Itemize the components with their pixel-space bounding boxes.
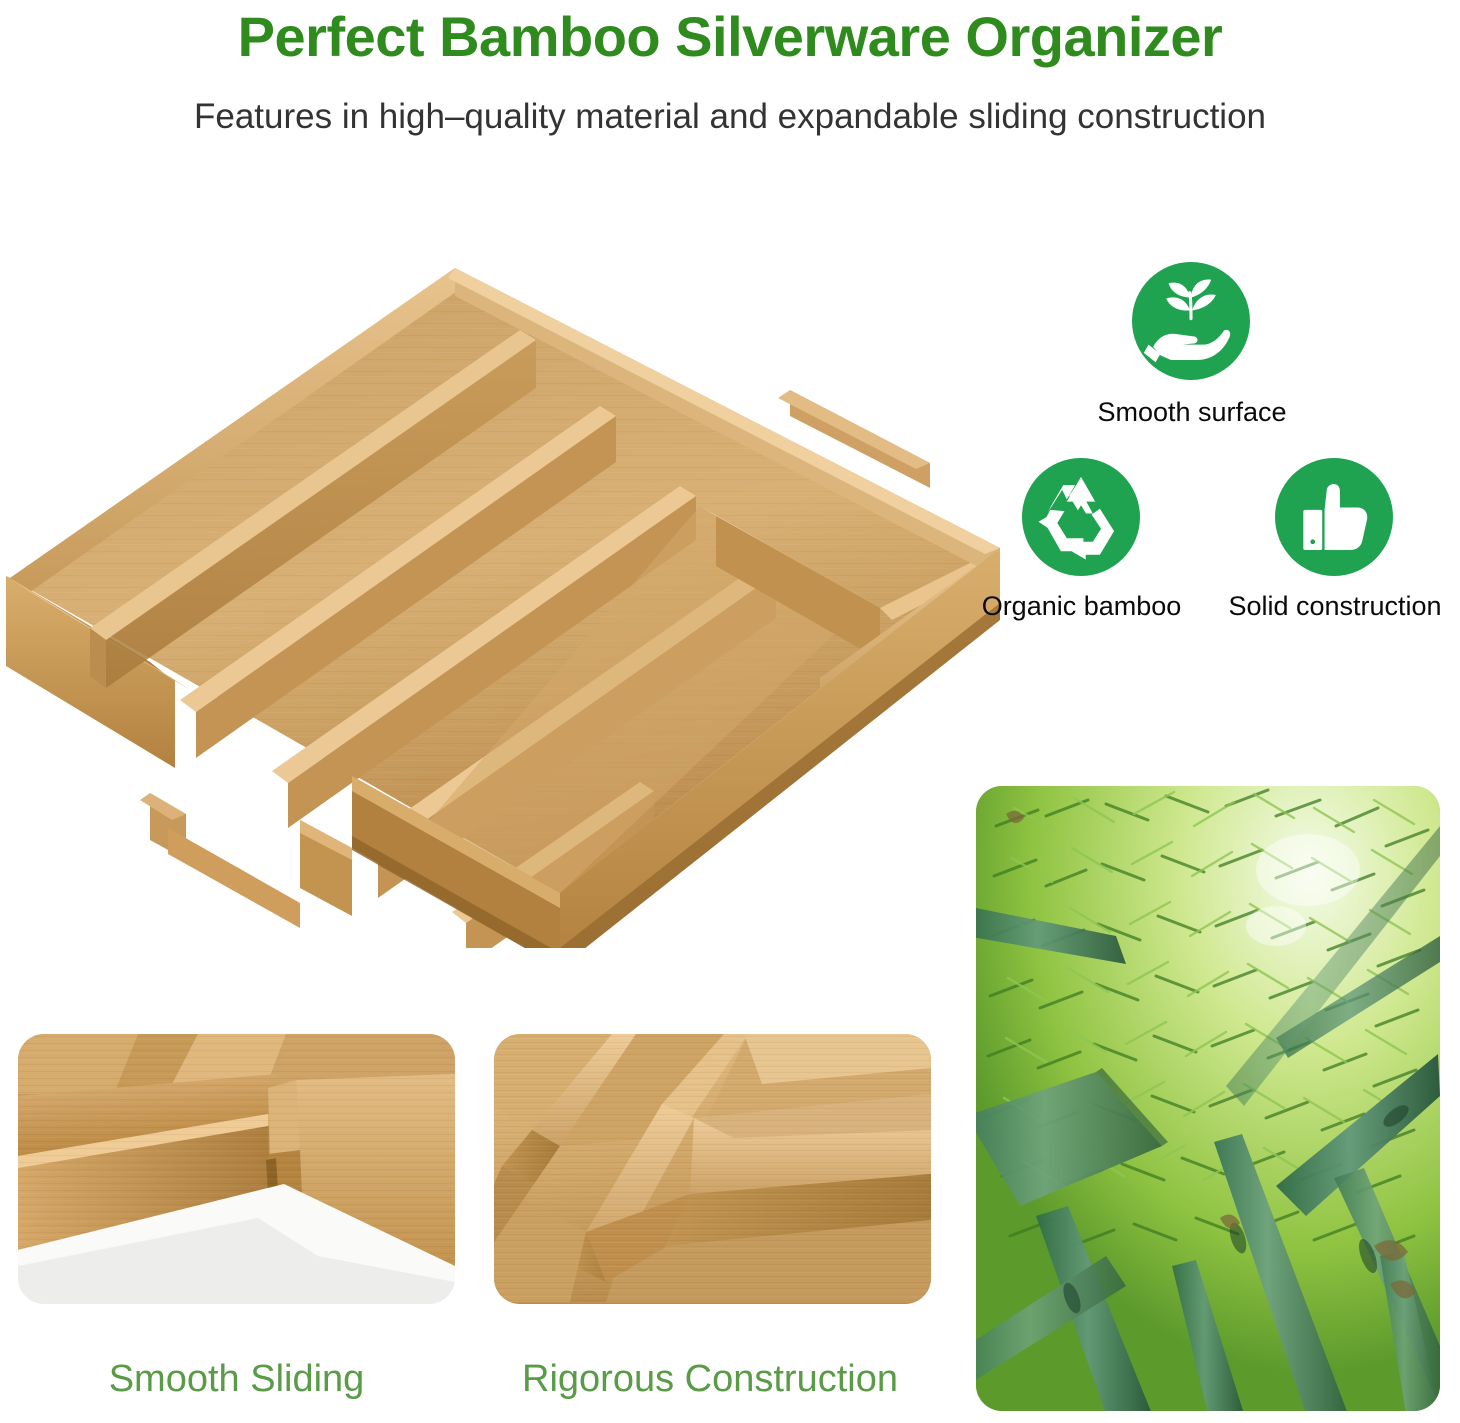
feature-label: Smooth surface (1042, 396, 1342, 428)
detail-image-smooth-sliding (18, 1034, 455, 1304)
badge-circle (1022, 458, 1140, 576)
feature-label: Organic bamboo (949, 590, 1214, 622)
recycle-icon (1022, 458, 1140, 576)
hero-product-image (0, 248, 1000, 948)
header: Perfect Bamboo Silverware Organizer Feat… (0, 0, 1460, 165)
feature-badge-solid-construction: Solid construction (1275, 458, 1393, 576)
bamboo-forest-image (976, 786, 1440, 1411)
page-title: Perfect Bamboo Silverware Organizer (0, 4, 1460, 70)
detail-caption-smooth-sliding: Smooth Sliding (18, 1356, 455, 1402)
feature-label: Solid construction (1196, 590, 1460, 622)
feature-badge-organic-bamboo: Organic bamboo (1022, 458, 1140, 576)
badge-circle (1275, 458, 1393, 576)
detail-caption-rigorous-construction: Rigorous Construction (470, 1356, 950, 1402)
detail-image-rigorous-construction (494, 1034, 931, 1304)
page-subtitle: Features in high–quality material and ex… (0, 96, 1460, 138)
thumbs-up-icon (1275, 458, 1393, 576)
hand-holding-plant-icon (1132, 262, 1250, 380)
feature-badges: Smooth surface Organi (980, 262, 1460, 662)
feature-badge-smooth-surface: Smooth surface (1132, 262, 1250, 380)
badge-circle (1132, 262, 1250, 380)
